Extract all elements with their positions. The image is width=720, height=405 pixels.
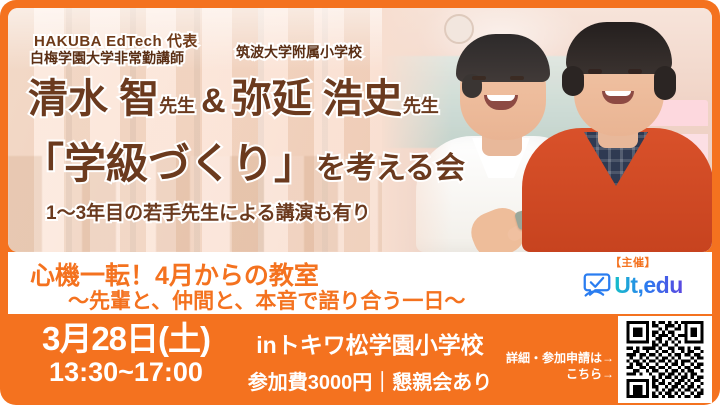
qr-code-image	[623, 321, 707, 398]
event-fee: 参加費3000円｜懇親会あり	[230, 366, 510, 395]
affiliation-right: 筑波大学附属小学校	[236, 42, 362, 62]
cta-line-1: 詳細・参加申請は→	[490, 350, 614, 366]
names-ampersand: &	[195, 82, 232, 120]
headline-subline: 1〜3年目の若手先生による講演も有り	[46, 198, 371, 225]
cta-text: 詳細・参加申請は→ こちら→	[490, 350, 614, 382]
tagline-sub: 〜先輩と、仲間と、本音で語り合う一日〜	[68, 285, 465, 315]
date-column: 3月28日(土) 13:30~17:00	[26, 322, 226, 388]
host-label: 【主催】	[568, 254, 698, 270]
speaker-names: 清水 智先生&弥延 浩史先生	[28, 66, 439, 124]
qr-code[interactable]	[618, 316, 712, 403]
venue-column: inトキワ松学園小学校 参加費3000円｜懇親会あり	[230, 326, 510, 395]
event-venue: inトキワ松学園小学校	[230, 326, 510, 360]
host-logo-text: Ut,edu	[614, 272, 683, 299]
host-logo[interactable]: Ut,edu	[568, 271, 698, 299]
speech-bubble-check-icon	[583, 271, 611, 299]
event-time: 13:30~17:00	[26, 357, 226, 388]
event-poster: HAKUBA EdTech 代表 白梅学園大学非常勤講師 筑波大学附属小学校 清…	[0, 0, 720, 405]
speaker-name-left: 清水 智	[28, 77, 159, 121]
speaker-honorific-left: 先生	[159, 96, 195, 116]
host-block: 【主催】 Ut,edu	[568, 254, 698, 299]
speaker-honorific-right: 先生	[403, 96, 439, 116]
headline-tail: を考える会	[316, 152, 465, 185]
tagline-band: 心機一転！4月からの教室 〜先輩と、仲間と、本音で語り合う一日〜 【主催】 Ut…	[8, 252, 712, 314]
speaker-name-right: 弥延 浩史	[232, 77, 403, 121]
hero-panel: HAKUBA EdTech 代表 白梅学園大学非常勤講師 筑波大学附属小学校 清…	[8, 8, 712, 252]
event-headline: 「学級づくり」を考える会	[22, 130, 465, 191]
headline-quoted: 「学級づくり」	[22, 140, 316, 187]
details-bar: 3月28日(土) 13:30~17:00 inトキワ松学園小学校 参加費3000…	[0, 314, 720, 405]
cta-line-2: こちら→	[490, 366, 614, 382]
affiliation-line-2: 白梅学園大学非常勤講師	[30, 48, 184, 68]
speaker-right-figure	[522, 34, 712, 252]
event-date: 3月28日(土)	[26, 322, 226, 357]
